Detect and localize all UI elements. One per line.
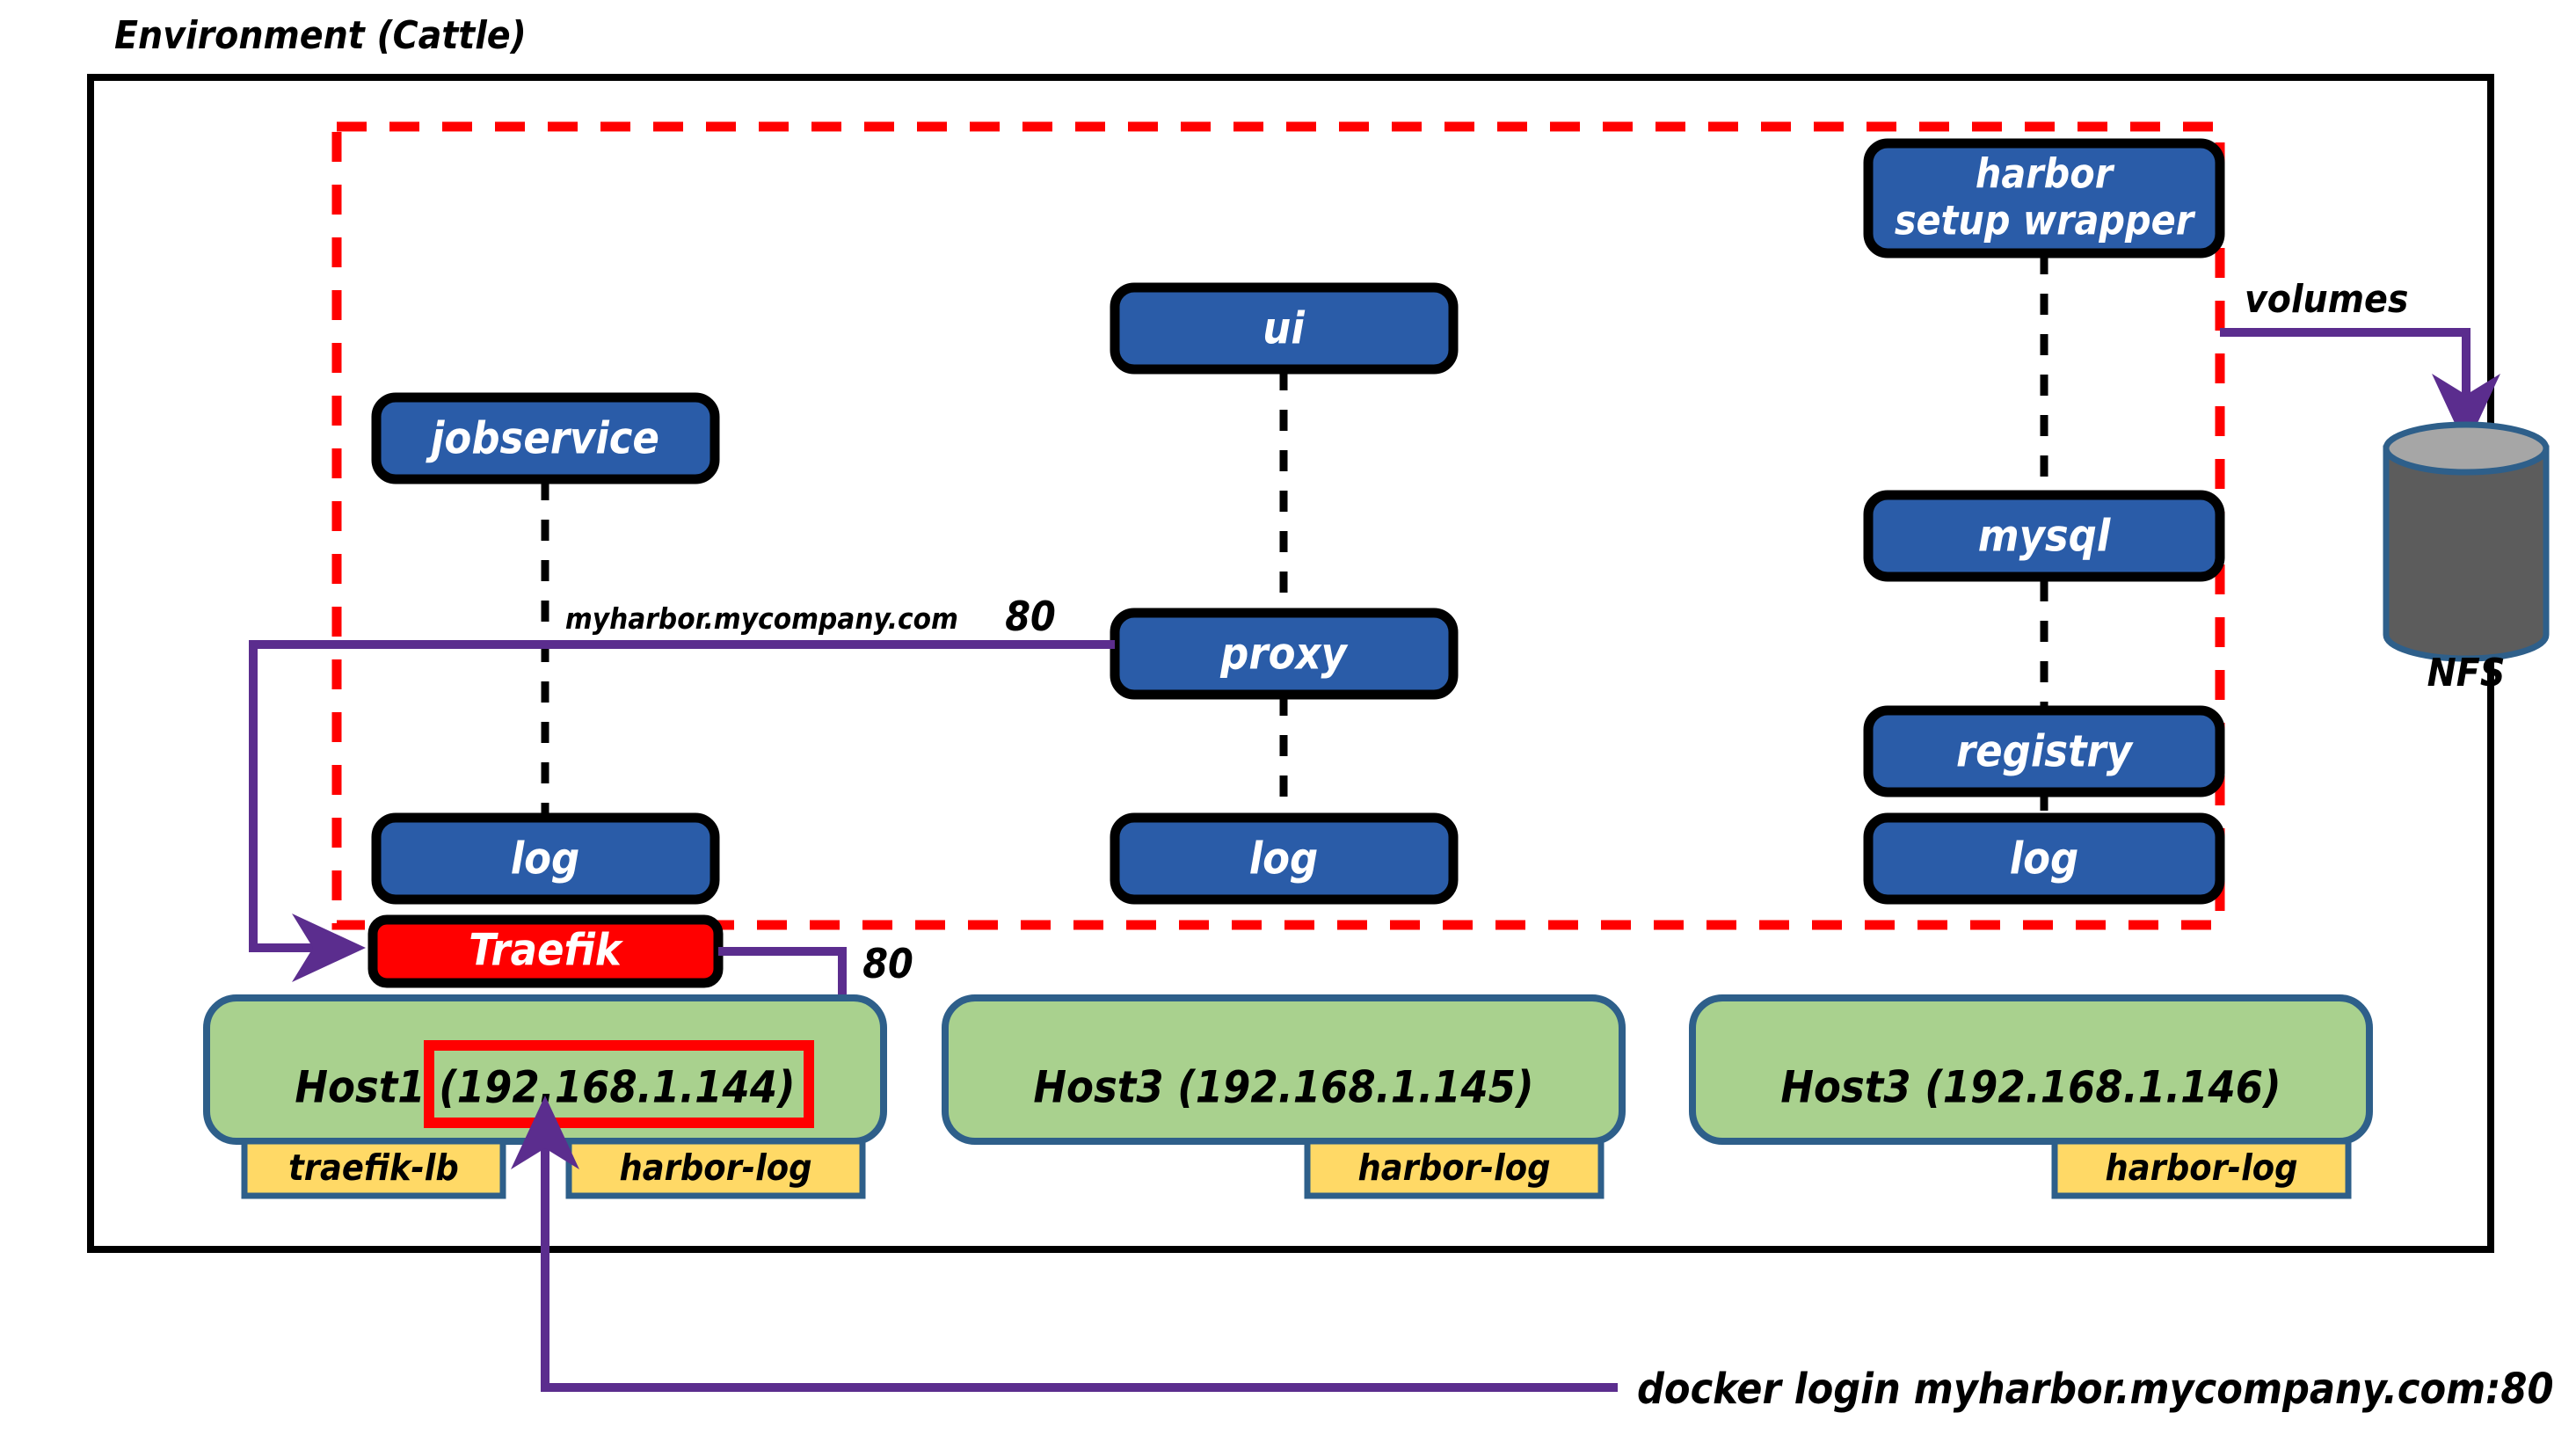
- jobservice-log-label: log: [511, 834, 580, 885]
- environment-title: Environment (Cattle): [114, 13, 527, 58]
- nfs-storage-cylinder: NFS: [2386, 425, 2546, 695]
- host1-tag-harbor-log[interactable]: harbor-log: [569, 1141, 862, 1196]
- host2-tag-harbor-log-label: harbor-log: [1358, 1147, 1551, 1189]
- host1-tag-traefik-lb-label: traefik-lb: [288, 1147, 459, 1189]
- host1-tag-traefik-lb[interactable]: traefik-lb: [244, 1141, 503, 1196]
- ingress-hostname-label: myharbor.mycompany.com: [565, 601, 958, 636]
- host1-label: Host1 (192.168.1.144): [295, 1062, 795, 1113]
- proxy-label: proxy: [1219, 629, 1348, 680]
- host2-tag-harbor-log[interactable]: harbor-log: [1307, 1141, 1601, 1196]
- service-node-registry[interactable]: registry: [1868, 710, 2220, 792]
- host3-tag-harbor-log[interactable]: harbor-log: [2055, 1141, 2348, 1196]
- nfs-label: NFS: [2427, 651, 2506, 695]
- host-node-3[interactable]: Host3 (192.168.1.146): [1692, 998, 2369, 1141]
- nfs-cylinder-body: [2386, 448, 2546, 659]
- flow-volumes-to-nfs: [2220, 332, 2466, 437]
- mysql-label: mysql: [1978, 511, 2111, 562]
- host1-tag-harbor-log-label: harbor-log: [620, 1147, 812, 1189]
- ui-label: ui: [1263, 303, 1305, 354]
- host3-tag-harbor-log-label: harbor-log: [2106, 1147, 2298, 1189]
- service-node-registry-log[interactable]: log: [1868, 818, 2220, 899]
- harbor-setup-wrapper-label-line1: harbor: [1976, 150, 2115, 198]
- service-node-proxy-log[interactable]: log: [1115, 818, 1453, 899]
- host-node-2[interactable]: Host3 (192.168.1.145): [945, 998, 1622, 1141]
- docker-login-command: docker login myharbor.mycompany.com:80: [1637, 1365, 2554, 1414]
- registry-label: registry: [1956, 726, 2134, 777]
- host3-label: Host3 (192.168.1.146): [1780, 1062, 2281, 1113]
- nfs-cylinder-top: [2386, 425, 2546, 472]
- ingress-port-label: 80: [1005, 593, 1056, 640]
- host2-label: Host3 (192.168.1.145): [1033, 1062, 1533, 1113]
- service-node-proxy[interactable]: proxy: [1115, 613, 1453, 695]
- volumes-label: volumes: [2245, 277, 2408, 322]
- service-node-harbor-setup-wrapper[interactable]: harbor setup wrapper: [1868, 143, 2220, 253]
- traefik-port-label: 80: [862, 940, 913, 987]
- traefik-label: Traefik: [469, 925, 624, 976]
- harbor-setup-wrapper-label-line2: setup wrapper: [1895, 197, 2196, 244]
- service-node-ui[interactable]: ui: [1115, 288, 1453, 369]
- registry-log-label: log: [2010, 834, 2079, 885]
- service-node-traefik[interactable]: Traefik: [373, 920, 718, 983]
- service-node-jobservice-log[interactable]: log: [376, 818, 715, 899]
- architecture-diagram: Environment (Cattle) jobservice log ui p…: [0, 0, 2576, 1449]
- jobservice-label: jobservice: [426, 413, 659, 464]
- proxy-log-label: log: [1249, 834, 1319, 885]
- service-node-jobservice[interactable]: jobservice: [376, 397, 715, 479]
- diagram-canvas: Environment (Cattle) jobservice log ui p…: [0, 0, 2576, 1449]
- service-node-mysql[interactable]: mysql: [1868, 495, 2220, 577]
